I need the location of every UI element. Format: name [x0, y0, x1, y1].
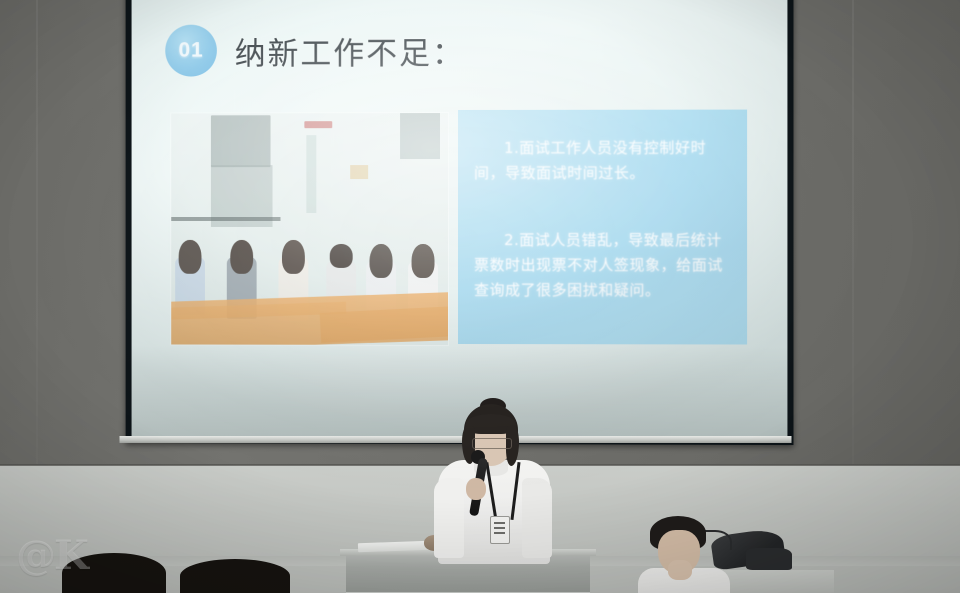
slide-title-row: 01 纳新工作不足：: [165, 24, 465, 77]
presenter-right-arm: [522, 478, 552, 558]
id-badge: [490, 516, 510, 544]
slide-paragraph-1: 1.面试工作人员没有控制好时间，导致面试时间过长。: [474, 136, 731, 186]
dark-bag-lower: [746, 548, 792, 570]
slide-number-badge: 01: [165, 25, 217, 77]
photo-red-poster: [304, 121, 332, 128]
student-hair: [230, 240, 253, 274]
slide-paragraph-2: 2.面试人员错乱，导致最后统计票数时出现票不对人签现象，给面试查询成了很多困扰和…: [474, 228, 731, 303]
photo-curtain: [400, 113, 440, 159]
seated-man-hand: [668, 560, 692, 580]
photo-wall-strip: [306, 135, 316, 213]
photo-wall-card: [350, 165, 368, 179]
cable: [704, 530, 732, 550]
seated-man: [626, 516, 746, 593]
student-hair: [330, 244, 353, 268]
student-hair: [412, 244, 435, 278]
audience-head: [180, 559, 290, 593]
slide-number-label: 01: [178, 39, 203, 63]
wall-seam: [852, 0, 854, 468]
wall-seam: [36, 0, 38, 468]
student-hair: [370, 244, 393, 278]
badge-line: [494, 527, 505, 529]
badge-line: [494, 532, 505, 534]
badge-line: [494, 522, 505, 524]
lecture-hall-photo: 01 纳新工作不足：: [0, 0, 960, 593]
watermark: @K: [16, 532, 87, 579]
slide-photo: [171, 113, 448, 345]
presentation-slide: 01 纳新工作不足：: [132, 0, 788, 439]
photo-blackboard: [211, 115, 271, 167]
projection-screen-frame: 01 纳新工作不足：: [126, 0, 794, 445]
slide-title: 纳新工作不足：: [235, 27, 465, 72]
slide-text-panel: 1.面试工作人员没有控制好时间，导致面试时间过长。 2.面试人员错乱，导致最后统…: [458, 110, 747, 345]
glasses-icon: [472, 438, 512, 449]
student-hair: [179, 240, 202, 274]
photo-desk-front: [171, 292, 448, 345]
presenter-left-arm: [434, 478, 464, 558]
presenter: [418, 404, 568, 564]
photo-chalk-rail: [171, 217, 280, 221]
student-hair: [282, 240, 305, 274]
presenter-hand: [466, 478, 486, 500]
